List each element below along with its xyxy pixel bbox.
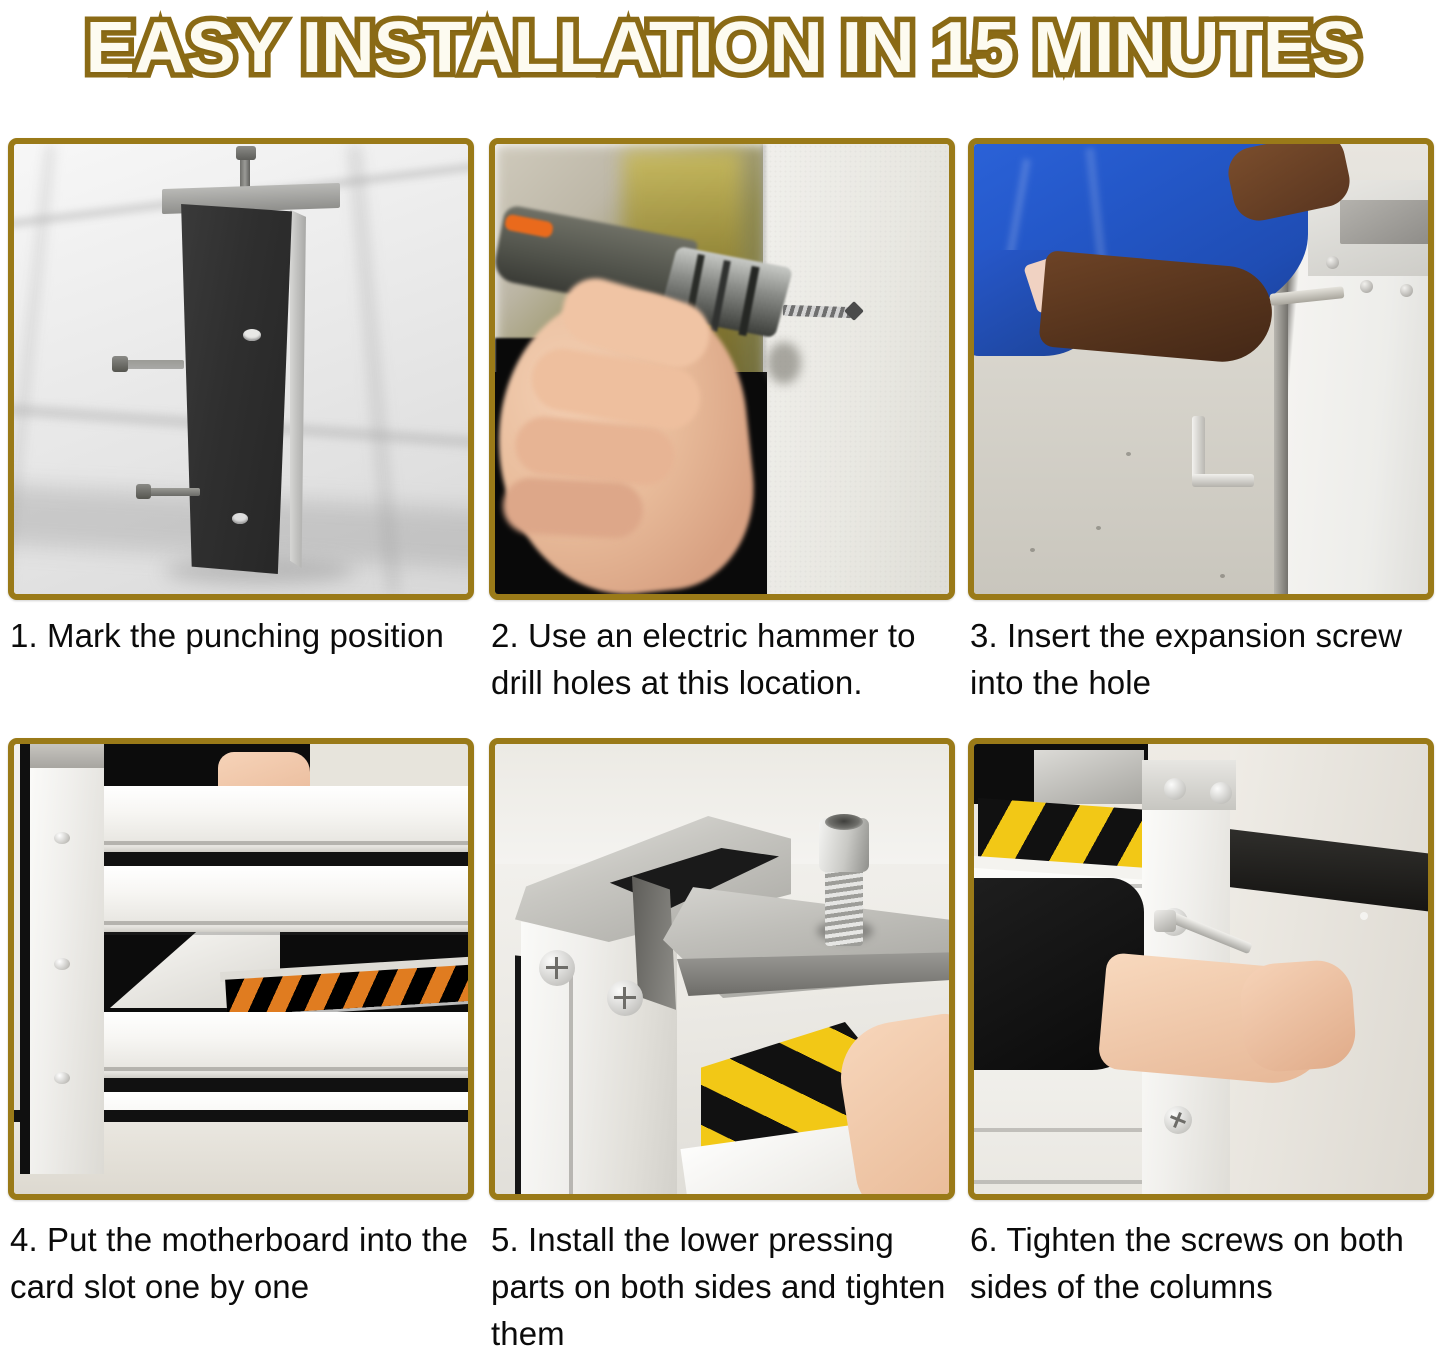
step-card-6: 6. Tighten the screws on both sides of t…	[968, 738, 1436, 1338]
step-card-2: 2. Use an electric hammer to drill holes…	[489, 138, 957, 738]
step-6-caption: 6. Tighten the screws on both sides of t…	[970, 1216, 1434, 1310]
page-title: EASY INSTALLATION IN 15 MINUTES	[85, 12, 1359, 84]
step-2-caption: 2. Use an electric hammer to drill holes…	[491, 612, 955, 706]
photo-install-lower-pressing-parts	[495, 744, 949, 1194]
step-card-3: 3. Insert the expansion screw into the h…	[968, 138, 1436, 738]
step-1-caption: 1. Mark the punching position	[10, 612, 474, 659]
photo-put-motherboard-card-slot	[14, 744, 468, 1194]
step-4-caption: 4. Put the motherboard into the card slo…	[10, 1216, 474, 1310]
steps-grid: 1. Mark the punching position	[8, 138, 1438, 1348]
step-card-4: 4. Put the motherboard into the card slo…	[8, 738, 476, 1338]
step-1-image-frame	[8, 138, 474, 600]
step-6-image-frame	[968, 738, 1434, 1200]
steps-row-bottom: 4. Put the motherboard into the card slo…	[8, 738, 1438, 1338]
installation-infographic: EASY INSTALLATION IN 15 MINUTES	[0, 0, 1445, 1352]
page-title-banner: EASY INSTALLATION IN 15 MINUTES	[0, 0, 1445, 95]
photo-insert-expansion-screw	[974, 144, 1428, 594]
step-4-image-frame	[8, 738, 474, 1200]
photo-tighten-screws-columns	[974, 744, 1428, 1194]
step-card-5: 5. Install the lower pressing parts on b…	[489, 738, 957, 1338]
step-3-image-frame	[968, 138, 1434, 600]
step-card-1: 1. Mark the punching position	[8, 138, 476, 738]
photo-mark-punching-position	[14, 144, 468, 594]
step-5-caption: 5. Install the lower pressing parts on b…	[491, 1216, 955, 1352]
photo-drill-holes	[495, 144, 949, 594]
step-3-caption: 3. Insert the expansion screw into the h…	[970, 612, 1434, 706]
steps-row-top: 1. Mark the punching position	[8, 138, 1438, 738]
step-5-image-frame	[489, 738, 955, 1200]
step-2-image-frame	[489, 138, 955, 600]
